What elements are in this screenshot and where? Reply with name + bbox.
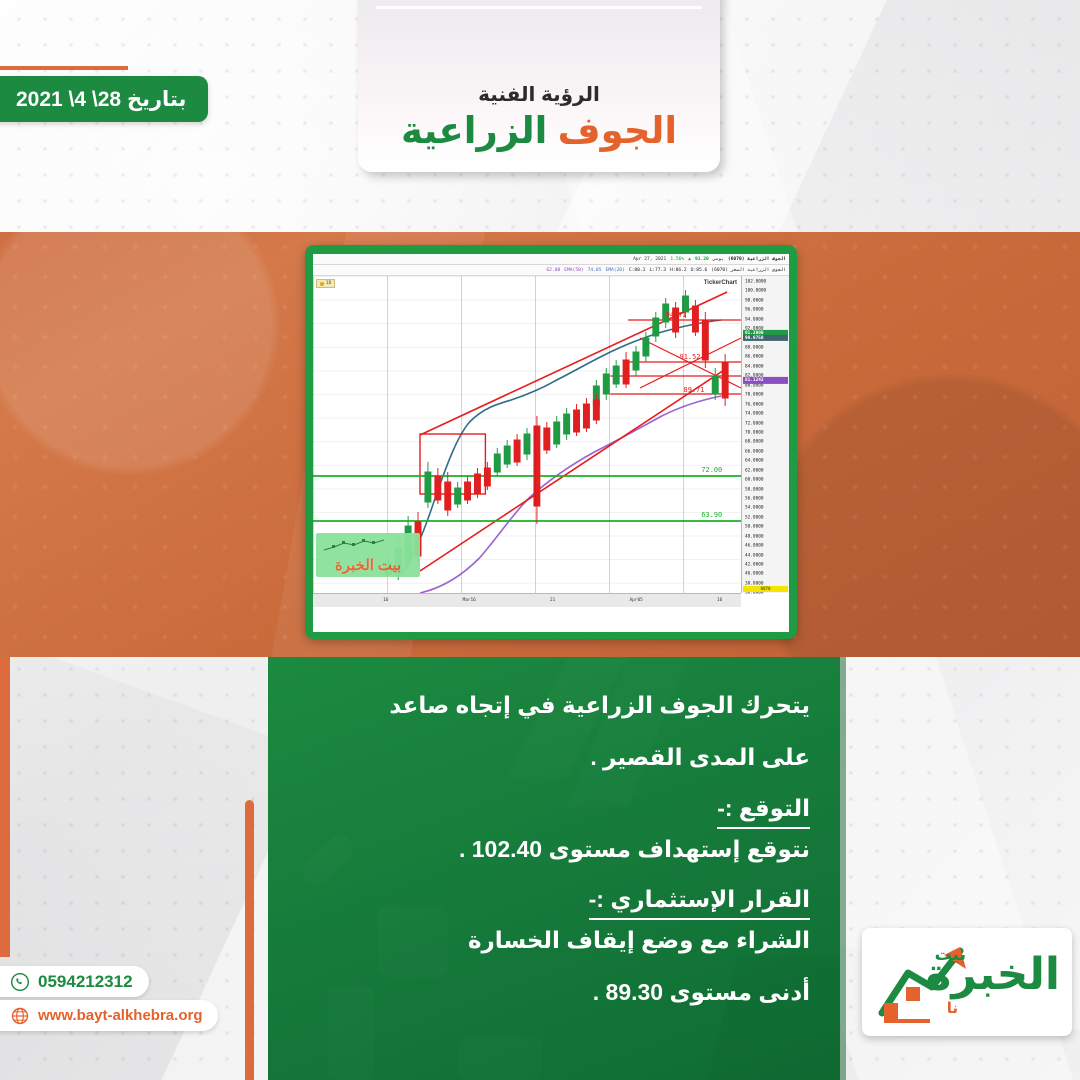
ema50-value: 62.08 xyxy=(546,268,560,273)
ema20-value: 74.85 xyxy=(588,268,602,273)
logo-main-word: الخبرة xyxy=(925,953,1060,997)
time-tick: 16 xyxy=(717,598,722,603)
decision-text-1: الشراء مع وضع إيقاف الخسارة xyxy=(298,926,810,955)
interval-tag-label: 1D xyxy=(326,281,331,286)
price-tick: 52.0000 xyxy=(745,515,764,520)
decision-text-2: أدنى مستوى 89.30 . xyxy=(298,978,810,1007)
date-badge-rule xyxy=(0,66,128,70)
expectation-text: نتوقع إستهداف مستوى 102.40 . xyxy=(298,835,810,864)
price-tick: 74.0000 xyxy=(745,412,764,417)
watermark-mini-chart-icon xyxy=(322,538,392,552)
ema50-line xyxy=(420,396,721,593)
price-highlight-ema50: 81.1242 xyxy=(743,377,788,383)
price-tick: 50.0000 xyxy=(745,525,764,530)
price-tick: 54.0000 xyxy=(745,506,764,511)
brand-logo: بيت الخبرة نا xyxy=(872,939,1062,1025)
chart-plot-area[interactable]: 1D TickerChart xyxy=(313,276,741,593)
date-badge: بتاريخ 28\ 4\ 2021 xyxy=(0,76,208,122)
header-card: الرؤية الفنية الجوف الزراعية xyxy=(358,0,720,172)
interval-tag: 1D xyxy=(316,279,335,288)
price-tick: 66.0000 xyxy=(745,449,764,454)
ema50-label: EMA(50) xyxy=(564,268,583,273)
support-label-1: 72.00 xyxy=(701,466,722,474)
chart-change-percent: 1.56% xyxy=(670,257,684,262)
annotation-resistance: 94.71 xyxy=(666,311,687,319)
header-subtitle: الرؤية الفنية xyxy=(478,82,600,107)
brand-logo-card[interactable]: بيت الخبرة نا xyxy=(862,928,1072,1036)
price-tick: 86.0000 xyxy=(745,355,764,360)
price-tick: 42.0000 xyxy=(745,563,764,568)
phone-number: 0594212312 xyxy=(38,972,133,992)
panel-right-edge xyxy=(840,657,846,1080)
globe-icon xyxy=(10,1006,30,1026)
candlestick-series xyxy=(385,290,728,580)
whatsapp-contact-pill[interactable]: 0594212312 xyxy=(0,966,149,997)
panel-decoration xyxy=(268,657,840,1080)
price-tick: 102.0000 xyxy=(745,280,766,285)
analysis-line-1: يتحرك الجوف الزراعية في إتجاه صاعد xyxy=(298,691,810,720)
price-highlight-ema20: 90.0750 xyxy=(743,335,788,341)
watermark-text: بيت الخبرة xyxy=(335,556,401,575)
price-tick: 46.0000 xyxy=(745,544,764,549)
up-arrow-icon: ▲ xyxy=(688,257,691,262)
price-tick: 100.0000 xyxy=(745,289,766,294)
price-tick: 96.0000 xyxy=(745,308,764,313)
left-orange-strip xyxy=(0,657,10,957)
title-word-sector: الزراعية xyxy=(401,110,547,151)
chart-interval-label: يومي xyxy=(713,257,724,262)
price-tick: 88.0000 xyxy=(745,346,764,351)
channel-upper-line xyxy=(420,292,727,435)
website-url: www.bayt-alkhebra.org xyxy=(38,1007,202,1024)
chart-low: L:77.3 xyxy=(649,268,666,273)
price-tick: 68.0000 xyxy=(745,440,764,445)
analysis-panel: يتحرك الجوف الزراعية في إتجاه صاعد على ا… xyxy=(268,657,840,1080)
price-tick: 40.0000 xyxy=(745,572,764,577)
price-tick: 56.0000 xyxy=(745,496,764,501)
page-title: الجوف الزراعية xyxy=(401,111,677,152)
poster-root: بتاريخ 28\ 4\ 2021 الرؤية الفنية الجوف ا… xyxy=(0,0,1080,1080)
axis-bottom-badge: 6070 xyxy=(743,586,788,592)
time-tick: 21 xyxy=(550,598,555,603)
chart-series-label: الجوف الزراعية السعر (6070) xyxy=(711,268,786,273)
analysis-line-2: على المدى القصير . xyxy=(298,743,810,772)
price-tick: 48.0000 xyxy=(745,534,764,539)
title-word-company: الجوف xyxy=(558,110,677,151)
price-tick: 64.0000 xyxy=(745,459,764,464)
ema20-label: EMA(20) xyxy=(605,268,624,273)
channel-lower-line xyxy=(420,368,727,571)
chart-time-axis[interactable]: 16Mar1621Apr0516 xyxy=(313,593,741,607)
annotation-pivot: 91.52 xyxy=(680,353,701,361)
price-tick: 44.0000 xyxy=(745,553,764,558)
chart-frame: الجوف الزراعية (6070) يومي 91.20 ▲ 1.56%… xyxy=(305,245,797,639)
ema20-line xyxy=(398,320,721,576)
website-contact-pill[interactable]: www.bayt-alkhebra.org xyxy=(0,1000,218,1031)
chart-watermark: بيت الخبرة xyxy=(316,533,420,577)
chart-open: O:85.6 xyxy=(691,268,708,273)
fan-line-2 xyxy=(640,338,741,388)
chart-date-label: Apr 27, 2021 xyxy=(633,257,666,262)
chart-body: 1D TickerChart xyxy=(313,276,789,607)
chart-header-row-2: الجوف الزراعية السعر (6070) O:85.6 H:86.… xyxy=(313,265,789,276)
annotation-stop: 89.71 xyxy=(684,386,705,394)
chart-ticker-label: الجوف الزراعية (6070) xyxy=(728,257,786,262)
chart-high: H:86.2 xyxy=(670,268,687,273)
provider-watermark: TickerChart xyxy=(704,280,737,286)
price-tick: 72.0000 xyxy=(745,421,764,426)
chart-close: C:80.1 xyxy=(629,268,646,273)
chart-screenshot[interactable]: الجوف الزراعية (6070) يومي 91.20 ▲ 1.56%… xyxy=(313,254,789,632)
price-tick: 58.0000 xyxy=(745,487,764,492)
whatsapp-icon xyxy=(10,972,30,992)
price-tick: 78.0000 xyxy=(745,393,764,398)
date-badge-label: بتاريخ 28\ 4\ 2021 xyxy=(16,87,186,112)
fan-line-1 xyxy=(640,338,741,388)
price-tick: 80.0000 xyxy=(745,383,764,388)
interval-dot-icon xyxy=(320,282,324,286)
time-tick: Apr05 xyxy=(630,598,643,603)
consolidation-box xyxy=(420,434,485,494)
chart-price-axis[interactable]: 102.0000100.000098.000096.000094.000092.… xyxy=(741,276,789,593)
chart-last-price: 91.20 xyxy=(695,257,709,262)
chart-header-row-1: الجوف الزراعية (6070) يومي 91.20 ▲ 1.56%… xyxy=(313,254,789,265)
price-tick: 76.0000 xyxy=(745,402,764,407)
logo-under-word: نا xyxy=(947,999,958,1017)
price-tick: 98.0000 xyxy=(745,298,764,303)
vertical-orange-accent xyxy=(245,800,254,1080)
support-label-2: 63.90 xyxy=(701,511,722,519)
price-tick: 94.0000 xyxy=(745,317,764,322)
time-tick: Mar16 xyxy=(463,598,476,603)
price-tick: 70.0000 xyxy=(745,430,764,435)
price-tick: 60.0000 xyxy=(745,478,764,483)
price-tick: 62.0000 xyxy=(745,468,764,473)
price-tick: 84.0000 xyxy=(745,364,764,369)
time-tick: 16 xyxy=(383,598,388,603)
